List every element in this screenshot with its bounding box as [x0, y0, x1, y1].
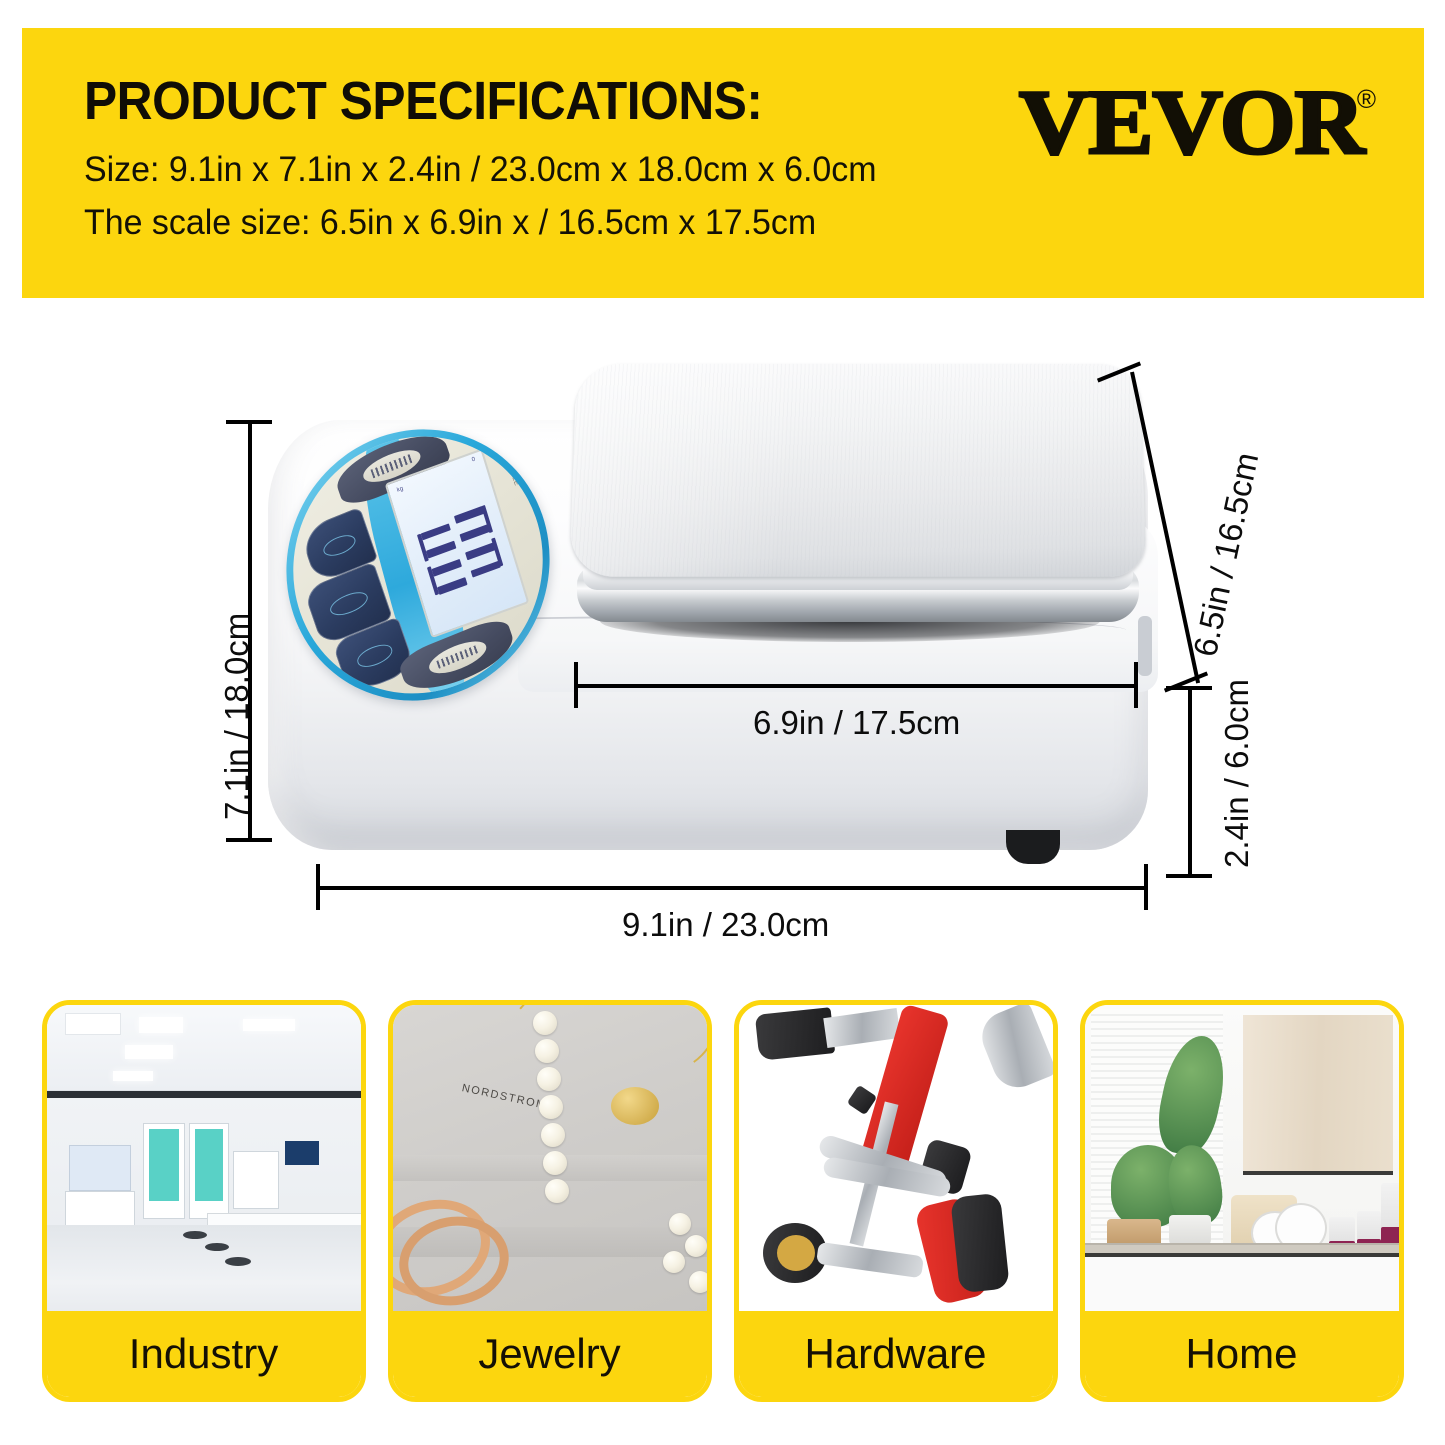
pearl	[685, 1235, 707, 1257]
kitchen-wall-cabinet	[1243, 1015, 1393, 1175]
function-button-cap	[426, 635, 490, 679]
industry-photo	[47, 1005, 361, 1321]
lcd-segment	[471, 560, 501, 578]
product-spec-infographic: PRODUCT SPECIFICATIONS: Size: 9.1in x 7.…	[0, 0, 1445, 1445]
lcd-segment	[421, 523, 451, 541]
lcd-segment	[460, 524, 490, 542]
scale-rubber-foot	[1006, 830, 1060, 864]
ceiling-light	[139, 1017, 183, 1033]
lcd-segment	[432, 559, 462, 577]
unit-button-ring	[321, 531, 359, 560]
hammer-neck	[823, 1008, 900, 1048]
gold-necklace-chain	[408, 1005, 536, 1035]
vevor-wordmark: VEVOR	[1019, 80, 1364, 165]
spec-scale-size-line: The scale size: 6.5in x 6.9in x / 16.5cm…	[84, 203, 816, 243]
category-card-jewelry[interactable]: NORDSTROM	[388, 1000, 712, 1402]
lab-stool	[225, 1257, 251, 1266]
height-dim-label: 7.1in / 18.0cm	[218, 613, 256, 820]
lab-stool	[205, 1243, 229, 1251]
pearl	[535, 1039, 559, 1063]
body-height-cap-bottom	[1166, 874, 1212, 878]
gold-necklace-chain	[581, 1005, 707, 1083]
ceiling-light	[113, 1071, 153, 1081]
pearl	[663, 1251, 685, 1273]
platform-width-dim-label: 6.9in / 17.5cm	[753, 704, 960, 742]
lcd-segment	[427, 541, 457, 559]
kitchen-countertop	[1085, 1243, 1399, 1253]
pliers-handle	[950, 1193, 1010, 1294]
category-card-row: Industry NORDSTROM	[0, 1000, 1445, 1420]
pearl	[533, 1011, 557, 1035]
lcd-segment	[454, 506, 484, 524]
product-hero: kg 0 ELECTRONIC SCALE	[0, 300, 1445, 990]
pearl	[669, 1213, 691, 1235]
category-label-home: Home	[1085, 1311, 1399, 1397]
body-height-cap-top	[1166, 686, 1212, 690]
platform-width-dim-line	[576, 684, 1138, 688]
jewelry-photo: NORDSTROM	[393, 1005, 707, 1321]
pearl	[537, 1067, 561, 1091]
platform-width-cap-right	[1134, 662, 1138, 708]
body-height-dim-label: 2.4in / 6.0cm	[1218, 679, 1256, 868]
width-cap-left	[316, 864, 320, 910]
lab-instrument-screen	[69, 1145, 131, 1191]
kitchen-scene	[1085, 1005, 1399, 1321]
ceiling-light	[243, 1019, 295, 1031]
page-title: PRODUCT SPECIFICATIONS:	[84, 70, 763, 132]
width-dim-line	[318, 886, 1148, 890]
home-photo	[1085, 1005, 1399, 1321]
mode-button-ring	[355, 641, 395, 671]
category-card-industry[interactable]: Industry	[42, 1000, 366, 1402]
category-label-jewelry: Jewelry	[393, 1311, 707, 1397]
jewelry-scene: NORDSTROM	[393, 1005, 707, 1321]
lab-floor	[47, 1225, 361, 1321]
hardware-photo	[739, 1005, 1053, 1321]
ceiling-light	[125, 1045, 173, 1059]
gold-pendant	[611, 1087, 659, 1125]
spec-banner: PRODUCT SPECIFICATIONS: Size: 9.1in x 7.…	[22, 28, 1424, 298]
pearl	[539, 1095, 563, 1119]
depth-dim-label: 6.5in / 16.5cm	[1186, 449, 1266, 660]
ratchet-wrench-handle	[815, 1242, 923, 1279]
tare-button-ring	[327, 587, 370, 620]
lab-equipment	[233, 1151, 279, 1209]
hardware-scene	[739, 1005, 1053, 1321]
scale-side-port	[1138, 616, 1152, 676]
lcd-segment	[465, 542, 495, 560]
lcd-right-indicator: 0	[472, 457, 477, 464]
width-cap-right	[1144, 864, 1148, 910]
category-label-hardware: Hardware	[739, 1311, 1053, 1397]
ratchet-socket-ring	[777, 1235, 815, 1271]
spec-size-line: Size: 9.1in x 7.1in x 2.4in / 23.0cm x 1…	[84, 150, 877, 190]
stainless-steel-platform	[569, 364, 1146, 577]
hammer-head	[754, 1007, 834, 1061]
pearl	[543, 1151, 567, 1175]
lab-cabinet-glass	[195, 1129, 223, 1201]
lcd-segment	[438, 577, 468, 595]
pearl	[541, 1123, 565, 1147]
nordstrom-inset-text: NORDSTROM	[460, 1082, 547, 1112]
vevor-logo: VEVOR ®	[1019, 80, 1376, 165]
body-height-dim-line	[1188, 688, 1192, 876]
pearl	[545, 1179, 569, 1203]
lab-monitor	[285, 1141, 319, 1165]
height-dim-cap-bottom	[226, 838, 272, 842]
lab-scene	[47, 1005, 361, 1321]
height-dim-cap-top	[226, 420, 272, 424]
pearl	[689, 1271, 707, 1293]
lab-cabinet-glass	[149, 1129, 179, 1201]
category-label-industry: Industry	[47, 1311, 361, 1397]
adjustable-wrench-head	[974, 1005, 1052, 1095]
platform-width-cap-left	[574, 662, 578, 708]
ceiling-tile	[65, 1013, 121, 1035]
category-card-hardware[interactable]: Hardware	[734, 1000, 1058, 1402]
brushed-metal-texture	[569, 364, 1146, 577]
width-dim-label: 9.1in / 23.0cm	[622, 906, 829, 944]
lcd-left-indicator: kg	[397, 486, 405, 494]
lab-wall-band	[47, 1091, 361, 1098]
lab-stool	[183, 1231, 207, 1239]
category-card-home[interactable]: Home	[1080, 1000, 1404, 1402]
